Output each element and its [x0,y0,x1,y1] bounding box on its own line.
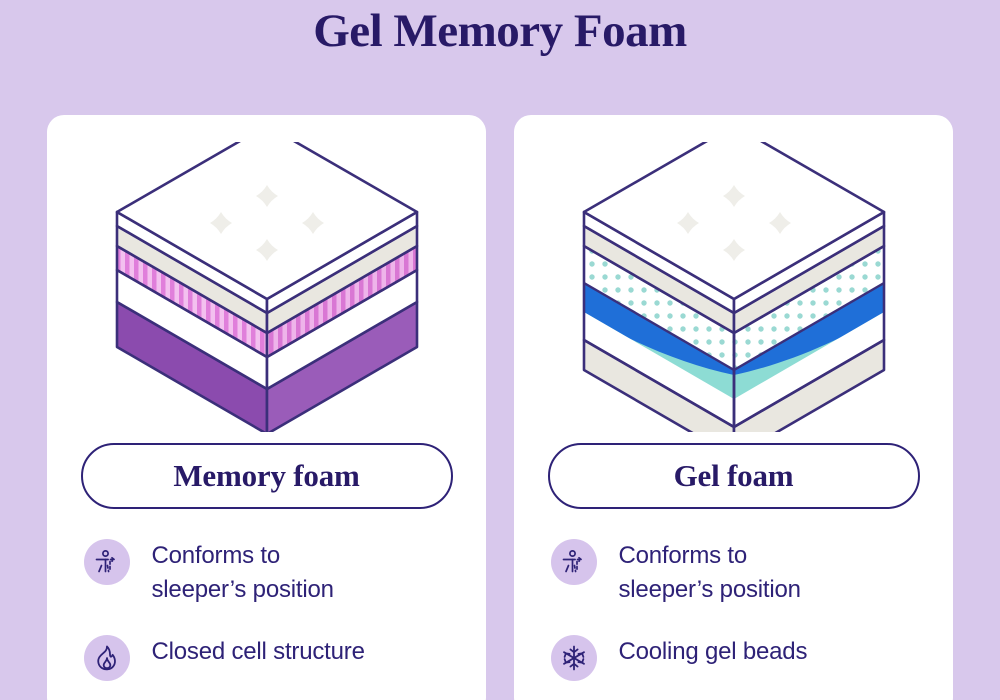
body-conform-icon [84,539,130,585]
flame-icon [84,635,130,681]
list-item: Conforms to sleeper’s position [84,537,453,607]
snowflake-icon [551,635,597,681]
list-item: Cooling gel beads [551,633,920,681]
list-item: Conforms to sleeper’s position [551,537,920,607]
list-item-label: Conforms to sleeper’s position [619,537,801,607]
feature-list-gel-foam: Conforms to sleeper’s position [548,537,920,681]
body-conform-icon [551,539,597,585]
list-item-label: Cooling gel beads [619,633,808,669]
feature-list-memory-foam: Conforms to sleeper’s position Closed ce… [81,537,453,681]
list-item: Closed cell structure [84,633,453,681]
comparison-cards: Memory foam Conforms to sleeper’s positi… [47,115,953,700]
pill-gel-foam[interactable]: Gel foam [548,443,920,509]
page-title: Gel Memory Foam [0,0,1000,59]
card-gel-foam: Gel foam Conforms to sleeper’s position [514,115,953,700]
pill-label: Gel foam [674,458,794,494]
list-item-label: Conforms to sleeper’s position [152,537,334,607]
gel-foam-mattress-diagram [569,137,899,437]
pill-memory-foam[interactable]: Memory foam [81,443,453,509]
list-item-label: Closed cell structure [152,633,365,669]
card-memory-foam: Memory foam Conforms to sleeper’s positi… [47,115,486,700]
pill-label: Memory foam [173,458,359,494]
memory-foam-mattress-diagram [102,137,432,437]
